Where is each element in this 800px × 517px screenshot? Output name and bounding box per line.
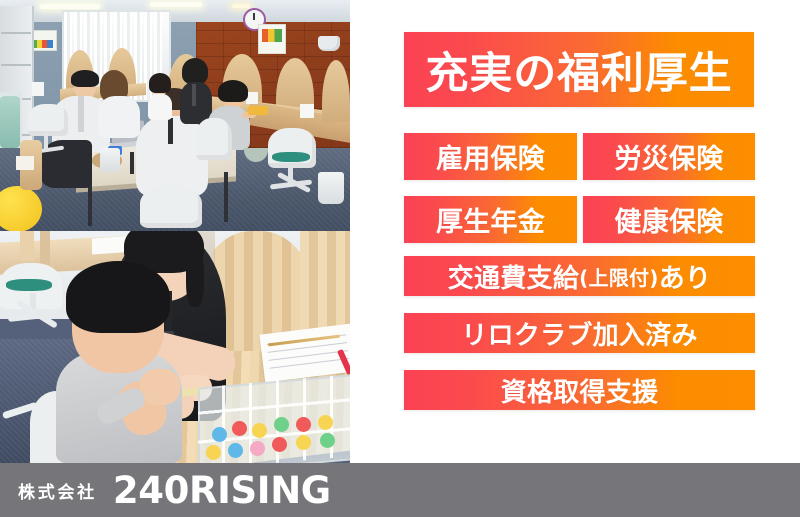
commuting-allowance-suffix: あり bbox=[659, 258, 712, 295]
benefit-badge-welfare-pension: 厚生年金 bbox=[404, 196, 577, 243]
company-name: 240RISING bbox=[113, 469, 331, 512]
benefit-badge-commuting-allowance: 交通費支給(上限付)あり bbox=[404, 256, 755, 296]
footer-bar: 株式会社 240RISING bbox=[0, 463, 800, 517]
photo-support bbox=[0, 231, 350, 463]
company-type: 株式会社 bbox=[18, 478, 97, 503]
headline-badge: 充実の福利厚生 bbox=[404, 32, 754, 107]
benefits-panel: 充実の福利厚生 雇用保険 労災保険 厚生年金 健康保険 交通費支給(上限付)あり… bbox=[350, 0, 800, 463]
benefit-badge-workers-accident-insurance: 労災保険 bbox=[583, 133, 755, 180]
photo-classroom bbox=[0, 0, 350, 231]
commuting-allowance-note: (上限付) bbox=[579, 262, 659, 291]
benefit-badge-qualification-support: 資格取得支援 bbox=[404, 370, 755, 410]
commuting-allowance-main: 交通費支給 bbox=[448, 258, 579, 295]
recruitment-banner: 充実の福利厚生 雇用保険 労災保険 厚生年金 健康保険 交通費支給(上限付)あり… bbox=[0, 0, 800, 517]
photo-column bbox=[0, 0, 350, 463]
benefit-badge-relo-club: リロクラブ加入済み bbox=[404, 313, 755, 353]
benefit-badge-health-insurance: 健康保険 bbox=[583, 196, 755, 243]
benefit-badge-employment-insurance: 雇用保険 bbox=[404, 133, 577, 180]
